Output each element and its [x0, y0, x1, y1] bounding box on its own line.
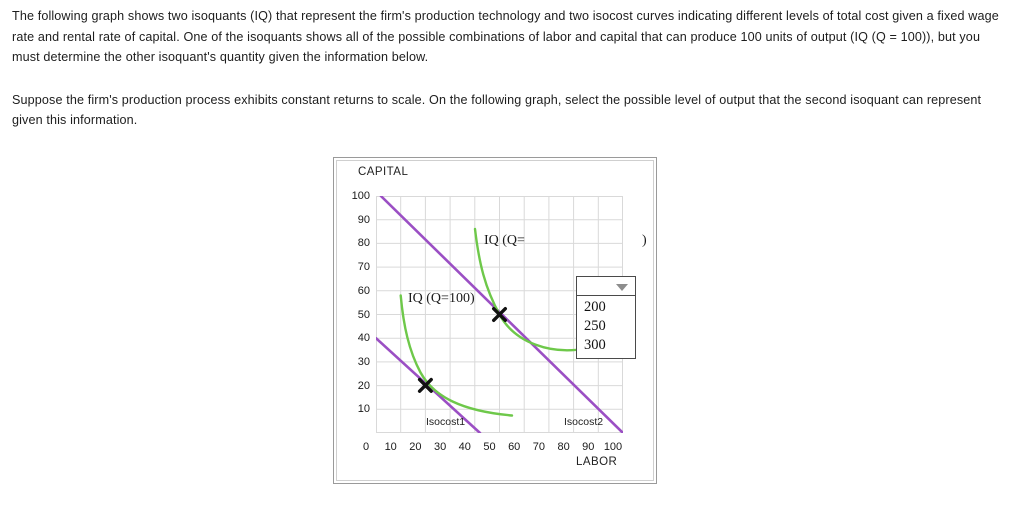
- isoquant-q100-curve: [401, 296, 512, 416]
- y-tick-10: 10: [336, 403, 370, 415]
- iq-unknown-label-prefix: IQ (Q=: [484, 233, 525, 249]
- iq-q100-label: IQ (Q=100): [408, 291, 475, 307]
- iq-unknown-label-suffix: ): [642, 233, 647, 249]
- option-250[interactable]: 250: [577, 317, 635, 336]
- option-200[interactable]: 200: [577, 298, 635, 317]
- y-tick-70: 70: [336, 261, 370, 273]
- x-tick-100: 100: [600, 441, 626, 453]
- x-tick-70: 70: [526, 441, 552, 453]
- x-tick-80: 80: [551, 441, 577, 453]
- y-tick-40: 40: [336, 332, 370, 344]
- y-tick-60: 60: [336, 285, 370, 297]
- output-level-select-button[interactable]: [576, 276, 636, 296]
- output-level-option-list[interactable]: 200 250 300: [576, 296, 636, 359]
- plot-area: IQ (Q=100) IQ (Q= ) Isocost1 Isocost2 20…: [376, 196, 623, 433]
- x-tick-50: 50: [477, 441, 503, 453]
- x-tick-60: 60: [501, 441, 527, 453]
- output-level-dropdown[interactable]: 200 250 300: [576, 276, 636, 359]
- x-tick-10: 10: [378, 441, 404, 453]
- x-tick-90: 90: [575, 441, 601, 453]
- y-tick-90: 90: [336, 214, 370, 226]
- y-tick-30: 30: [336, 356, 370, 368]
- isocost1-label: Isocost1: [426, 416, 465, 428]
- graph-panel: CAPITAL LABOR 100 90 80 70 60 50 40 30 2…: [333, 157, 657, 484]
- chevron-down-icon[interactable]: [616, 284, 628, 291]
- isocost2-label: Isocost2: [564, 416, 603, 428]
- y-tick-80: 80: [336, 237, 370, 249]
- x-tick-40: 40: [452, 441, 478, 453]
- question-paragraph-2: Suppose the firm's production process ex…: [12, 90, 1010, 131]
- x-tick-20: 20: [402, 441, 428, 453]
- question-text: The following graph shows two isoquants …: [12, 6, 1010, 131]
- x-axis-title: LABOR: [576, 456, 617, 468]
- y-axis-title: CAPITAL: [358, 166, 408, 178]
- x-tick-30: 30: [427, 441, 453, 453]
- y-tick-100: 100: [336, 190, 370, 202]
- y-tick-50: 50: [336, 309, 370, 321]
- y-tick-20: 20: [336, 380, 370, 392]
- option-300[interactable]: 300: [577, 336, 635, 355]
- question-paragraph-1: The following graph shows two isoquants …: [12, 6, 1010, 68]
- x-tick-0: 0: [353, 441, 379, 453]
